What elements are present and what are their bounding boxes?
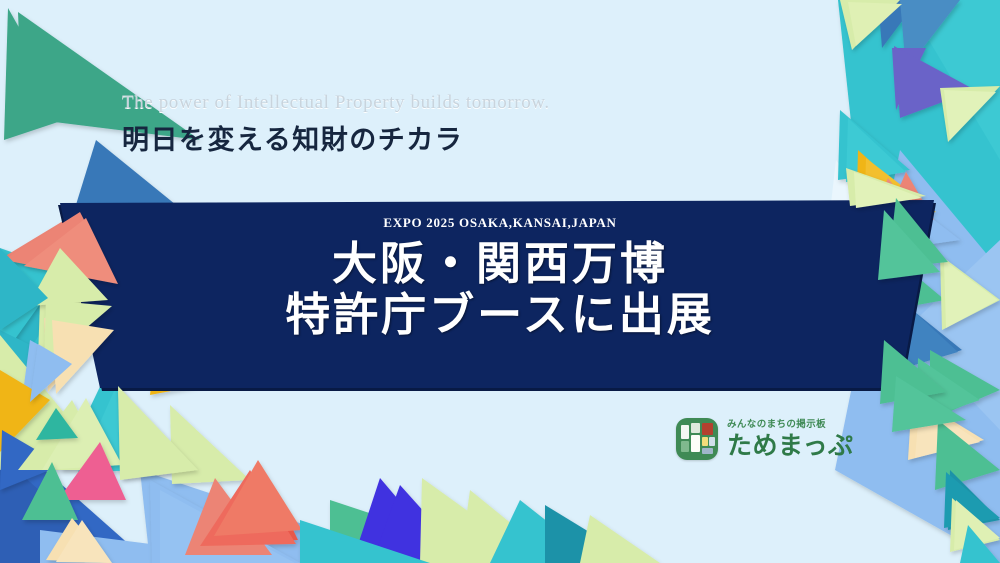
expo-label: EXPO 2025 OSAKA,KANSAI,JAPAN <box>383 215 616 231</box>
logo-name: ためまっぷ <box>727 432 854 459</box>
banner-text-block: EXPO 2025 OSAKA,KANSAI,JAPAN 大阪・関西万博 特許庁… <box>60 203 940 391</box>
tamemap-logo-mark-icon <box>676 418 718 460</box>
logo-tile-2 <box>691 423 700 433</box>
poster-canvas: The power of Intellectual Property build… <box>0 0 1000 563</box>
headline-line-1: 大阪・関西万博 <box>332 237 668 290</box>
logo-tile-6 <box>702 448 713 454</box>
tamemap-logo-text: みんなのまちの掲示板 ためまっぷ <box>727 419 854 458</box>
logo-tile-3 <box>691 435 700 452</box>
logo-tagline: みんなのまちの掲示板 <box>727 419 854 430</box>
logo-tile-5 <box>702 437 708 446</box>
headline-line-2: 特許庁ブースに出展 <box>285 288 715 341</box>
tamemap-logo[interactable]: みんなのまちの掲示板 ためまっぷ <box>676 418 854 460</box>
logo-tile-0 <box>681 425 689 439</box>
tagline-english: The power of Intellectual Property build… <box>122 92 550 114</box>
logo-tile-1 <box>681 441 689 452</box>
subheadline-japanese: 明日を変える知財のチカラ <box>122 118 463 157</box>
logo-tile-4 <box>702 423 713 435</box>
logo-tile-7 <box>709 437 715 446</box>
